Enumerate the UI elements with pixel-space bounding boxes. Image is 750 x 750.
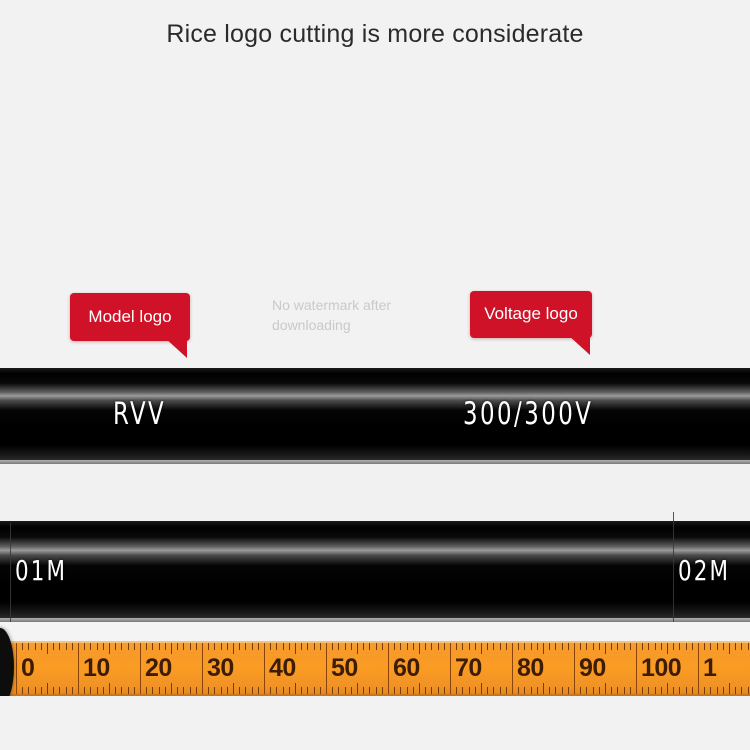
tape-tick-minor (239, 643, 240, 650)
tape-tick-minor (233, 683, 234, 694)
tape-tick-minor (66, 643, 67, 650)
tape-tick-minor (741, 687, 742, 694)
tape-tick-minor (679, 687, 680, 694)
tape-tick-minor (208, 643, 209, 650)
tape-tick-minor (35, 643, 36, 650)
tape-tick-minor (673, 643, 674, 650)
tape-tick-minor (438, 687, 439, 694)
cable-segment-bottom (0, 521, 750, 622)
tape-tick-minor (103, 643, 104, 650)
tape-tick-minor (53, 643, 54, 650)
tape-tick-minor (115, 687, 116, 694)
tape-tick-minor (692, 643, 693, 650)
tape-tick-minor (593, 687, 594, 694)
tape-tick-minor (301, 687, 302, 694)
tape-tick-minor (258, 643, 259, 650)
tape-tick-minor (506, 687, 507, 694)
tape-tick-minor (97, 643, 98, 650)
tape-tick-minor (134, 643, 135, 650)
tape-tick-minor (90, 643, 91, 650)
tape-tick-minor (673, 687, 674, 694)
tape-tick-minor (97, 687, 98, 694)
tape-tick-minor (723, 687, 724, 694)
tape-tick-minor (121, 643, 122, 650)
tape-tick-minor (128, 643, 129, 650)
cable-print-meter-end: 02M (678, 554, 730, 587)
tape-tick-minor (376, 643, 377, 650)
tape-tick-minor (599, 687, 600, 694)
tape-tick-major (450, 643, 451, 694)
tape-tick-minor (28, 687, 29, 694)
background-gap (0, 464, 750, 521)
tape-tick-minor (59, 643, 60, 650)
tape-tick-minor (351, 687, 352, 694)
tape-tick-minor (221, 687, 222, 694)
tape-tick-minor (177, 643, 178, 650)
tape-tick-minor (214, 643, 215, 650)
tape-tick-minor (438, 643, 439, 650)
tape-tick-minor (524, 643, 525, 650)
tape-tick-minor (487, 687, 488, 694)
tape-tick-major (264, 643, 265, 694)
tape-tick-minor (431, 643, 432, 650)
tape-tick-minor (456, 687, 457, 694)
tape-tick-major (636, 643, 637, 694)
callout-bubble-model-logo: Model logo (70, 293, 190, 341)
tape-tick-minor (661, 643, 662, 650)
tape-tick-minor (35, 687, 36, 694)
tape-tick-minor (22, 643, 23, 650)
tape-tick-minor (177, 687, 178, 694)
tape-tick-minor (735, 687, 736, 694)
watermark-note-line-2: downloading (272, 315, 432, 335)
background-gap (0, 622, 750, 641)
tape-tick-minor (84, 687, 85, 694)
page-title: Rice logo cutting is more considerate (0, 20, 750, 49)
tape-tick-minor (28, 643, 29, 650)
tape-tick-minor (208, 687, 209, 694)
tape-tick-minor (419, 643, 420, 654)
tape-tick-minor (717, 643, 718, 650)
tape-tick-minor (617, 687, 618, 694)
tape-tick-minor (686, 643, 687, 650)
tape-tick-minor (524, 687, 525, 694)
tape-tick-minor (568, 687, 569, 694)
tape-tick-minor (227, 643, 228, 650)
tape-tick-minor (642, 643, 643, 650)
cable-print-voltage: 300/300V (463, 396, 593, 432)
tape-tick-minor (252, 687, 253, 694)
tape-tick-minor (611, 687, 612, 694)
tape-tick-minor (165, 687, 166, 694)
tape-tick-minor (400, 643, 401, 650)
tape-tick-minor (146, 643, 147, 650)
tape-tick-minor (704, 687, 705, 694)
tape-tick-minor (537, 687, 538, 694)
tape-tick-minor (500, 687, 501, 694)
tape-number-label: 0 (21, 656, 34, 681)
tape-tick-minor (276, 687, 277, 694)
tape-tick-minor (115, 643, 116, 650)
tape-tick-minor (425, 643, 426, 650)
tape-tick-minor (190, 687, 191, 694)
tape-tick-minor (611, 643, 612, 650)
tape-tick-minor (128, 687, 129, 694)
tape-tick-minor (301, 643, 302, 650)
tape-number-label: 50 (331, 656, 358, 681)
tape-tick-minor (53, 687, 54, 694)
cable-print-meter-start: 01M (15, 554, 67, 587)
callout-bubble-model-logo-label: Model logo (75, 308, 184, 325)
tape-tick-minor (555, 687, 556, 694)
tape-tick-minor (369, 687, 370, 694)
tape-tick-minor (289, 687, 290, 694)
callout-bubble-voltage-logo: Voltage logo (470, 291, 592, 338)
tape-number-label: 70 (455, 656, 482, 681)
tape-number-label: 10 (83, 656, 110, 681)
callout-bubble-voltage-logo-label: Voltage logo (471, 305, 591, 322)
tape-tick-minor (543, 683, 544, 694)
tape-tick-minor (599, 643, 600, 650)
tape-tick-minor (710, 687, 711, 694)
tape-tick-minor (332, 643, 333, 650)
tape-tick-minor (630, 643, 631, 650)
tape-tick-minor (723, 643, 724, 650)
tape-tick-minor (307, 643, 308, 650)
background-strip (0, 696, 750, 750)
tape-tick-minor (648, 643, 649, 650)
product-image-canvas: Rice logo cutting is more considerate No… (0, 0, 750, 750)
tape-tick-major (574, 643, 575, 694)
tape-tick-minor (227, 687, 228, 694)
tape-tick-minor (704, 643, 705, 650)
tape-tick-minor (407, 643, 408, 650)
tape-number-label: 30 (207, 656, 234, 681)
tape-tick-minor (431, 687, 432, 694)
tape-tick-minor (41, 687, 42, 694)
tape-tick-major (326, 643, 327, 694)
tape-tick-minor (196, 643, 197, 650)
tape-tick-minor (345, 687, 346, 694)
callout-tail-icon (165, 338, 187, 358)
tape-tick-minor (531, 687, 532, 694)
tape-tick-minor (276, 643, 277, 650)
tape-tick-minor (196, 687, 197, 694)
tape-tick-minor (270, 687, 271, 694)
tape-tick-minor (469, 687, 470, 694)
tape-tick-minor (146, 687, 147, 694)
tape-tick-minor (624, 643, 625, 650)
tape-tick-minor (171, 683, 172, 694)
cable-print-model: RVV (113, 396, 166, 432)
tape-tick-minor (469, 643, 470, 650)
tape-tick-minor (66, 687, 67, 694)
tape-tick-minor (345, 643, 346, 650)
tape-tick-minor (47, 683, 48, 694)
tape-tick-minor (190, 643, 191, 650)
tape-tick-minor (121, 687, 122, 694)
tape-tick-minor (444, 643, 445, 650)
tape-tick-minor (537, 643, 538, 650)
tape-tick-minor (562, 687, 563, 694)
tape-tick-minor (655, 687, 656, 694)
tape-tick-minor (245, 687, 246, 694)
tape-tick-minor (314, 687, 315, 694)
tape-tick-minor (357, 643, 358, 654)
tape-tick-minor (363, 643, 364, 650)
tape-tick-minor (549, 643, 550, 650)
tape-tick-minor (245, 643, 246, 650)
tape-tick-minor (338, 643, 339, 650)
tape-tick-minor (152, 643, 153, 650)
tape-tick-minor (462, 643, 463, 650)
tape-tick-minor (295, 643, 296, 654)
tape-tick-minor (233, 643, 234, 654)
tape-tick-major (512, 643, 513, 694)
tape-tick-minor (605, 683, 606, 694)
tape-tick-minor (165, 643, 166, 650)
tape-tick-minor (252, 643, 253, 650)
tape-tick-minor (630, 687, 631, 694)
tape-tick-minor (103, 687, 104, 694)
tape-tick-minor (332, 687, 333, 694)
tape-tick-minor (152, 687, 153, 694)
tape-tick-minor (717, 687, 718, 694)
tape-tick-minor (624, 687, 625, 694)
tape-tick-minor (351, 643, 352, 650)
tape-tick-minor (90, 687, 91, 694)
tape-tick-minor (159, 643, 160, 650)
tape-tick-minor (84, 643, 85, 650)
tape-tick-major (388, 643, 389, 694)
tape-tick-minor (555, 643, 556, 650)
tape-measure: 01020304050607080901001 (0, 641, 750, 696)
tape-tick-minor (307, 687, 308, 694)
tape-tick-minor (735, 643, 736, 650)
tape-tick-minor (419, 683, 420, 694)
tape-tick-minor (686, 687, 687, 694)
tape-tick-minor (462, 687, 463, 694)
tape-tick-minor (283, 643, 284, 650)
tape-tick-minor (214, 687, 215, 694)
tape-tick-minor (549, 687, 550, 694)
tape-tick-minor (493, 643, 494, 650)
tape-tick-minor (413, 687, 414, 694)
tape-tick-minor (22, 687, 23, 694)
tape-tick-minor (72, 687, 73, 694)
tape-tick-minor (543, 643, 544, 654)
tape-tick-minor (289, 643, 290, 650)
tape-tick-minor (580, 687, 581, 694)
tape-tick-major (202, 643, 203, 694)
tape-tick-minor (41, 643, 42, 650)
tape-tick-minor (729, 643, 730, 654)
tape-tick-minor (320, 687, 321, 694)
tape-tick-minor (394, 643, 395, 650)
tape-tick-minor (109, 643, 110, 654)
tape-tick-minor (493, 687, 494, 694)
tape-tick-minor (407, 687, 408, 694)
watermark-note-line-1: No watermark after (272, 295, 432, 315)
tape-number-label: 40 (269, 656, 296, 681)
tape-tick-minor (593, 643, 594, 650)
tape-tick-minor (295, 683, 296, 694)
tape-tick-minor (221, 643, 222, 650)
tape-tick-minor (456, 643, 457, 650)
tape-tick-minor (586, 643, 587, 650)
tape-tick-minor (679, 643, 680, 650)
tape-tick-minor (376, 687, 377, 694)
tape-tick-major (78, 643, 79, 694)
tape-tick-minor (183, 687, 184, 694)
tape-number-label: 90 (579, 656, 606, 681)
tape-tick-minor (270, 643, 271, 650)
watermark-note: No watermark after downloading (272, 295, 432, 336)
tape-tick-minor (481, 643, 482, 654)
tape-tick-minor (568, 643, 569, 650)
tape-number-label: 80 (517, 656, 544, 681)
tape-tick-minor (580, 643, 581, 650)
tape-tick-minor (586, 687, 587, 694)
tape-number-label: 1 (703, 656, 716, 681)
tape-tick-minor (667, 683, 668, 694)
tape-tick-minor (642, 687, 643, 694)
tape-tick-minor (239, 687, 240, 694)
callout-tail-icon (568, 335, 590, 355)
tape-tick-minor (59, 687, 60, 694)
tape-tick-minor (382, 643, 383, 650)
tape-tick-minor (258, 687, 259, 694)
tape-tick-minor (710, 643, 711, 650)
tape-tick-minor (667, 643, 668, 654)
tape-tick-minor (692, 687, 693, 694)
tape-tick-minor (475, 643, 476, 650)
tape-number-label: 100 (641, 656, 681, 681)
tape-tick-minor (159, 687, 160, 694)
tape-tick-minor (487, 643, 488, 650)
tape-tick-minor (655, 643, 656, 650)
tape-tick-minor (369, 643, 370, 650)
tape-tick-minor (518, 687, 519, 694)
tape-tick-minor (357, 683, 358, 694)
tape-tick-minor (500, 643, 501, 650)
tape-tick-minor (382, 687, 383, 694)
tape-tick-minor (562, 643, 563, 650)
tape-tick-minor (320, 643, 321, 650)
tape-tick-minor (400, 687, 401, 694)
tape-tick-minor (531, 643, 532, 650)
tape-tick-minor (109, 683, 110, 694)
tape-tick-minor (748, 643, 749, 650)
tape-tick-minor (444, 687, 445, 694)
tape-tick-minor (183, 643, 184, 650)
tape-tick-minor (475, 687, 476, 694)
tape-tick-minor (413, 643, 414, 650)
tape-tick-minor (741, 643, 742, 650)
tape-tick-minor (506, 643, 507, 650)
tape-tick-minor (171, 643, 172, 654)
tape-tick-minor (363, 687, 364, 694)
tape-tick-minor (661, 687, 662, 694)
tape-tick-minor (283, 687, 284, 694)
tape-tick-minor (314, 643, 315, 650)
tape-tick-major (698, 643, 699, 694)
tape-tick-minor (72, 643, 73, 650)
tape-tick-minor (425, 687, 426, 694)
tape-tick-minor (729, 683, 730, 694)
tape-tick-minor (47, 643, 48, 654)
tape-number-label: 60 (393, 656, 420, 681)
tape-tick-minor (394, 687, 395, 694)
tape-number-label: 20 (145, 656, 172, 681)
tape-tick-major (16, 643, 17, 694)
tape-tick-major (140, 643, 141, 694)
tape-tick-minor (134, 687, 135, 694)
tape-tick-minor (648, 687, 649, 694)
tape-tick-minor (481, 683, 482, 694)
tape-tick-minor (748, 687, 749, 694)
tape-tick-minor (605, 643, 606, 654)
tape-tick-minor (518, 643, 519, 650)
tape-tick-minor (338, 687, 339, 694)
tape-tick-minor (617, 643, 618, 650)
